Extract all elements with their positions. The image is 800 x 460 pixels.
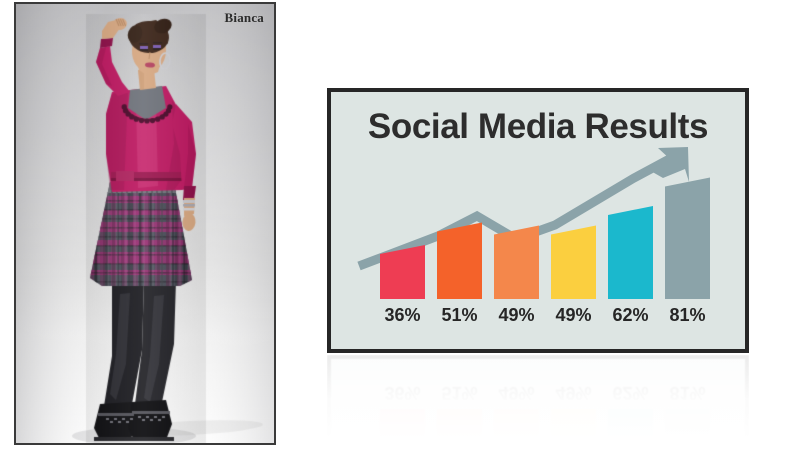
bar-label-4: 49% xyxy=(547,382,600,403)
bar-4 xyxy=(551,226,596,300)
chart-title: Social Media Results xyxy=(331,107,745,147)
chart-reflection: Social Media Results 36%51%49%49%62%81% xyxy=(327,355,749,451)
bar-label-5: 62% xyxy=(604,305,657,326)
bar-1 xyxy=(380,409,425,451)
bar-label-4: 49% xyxy=(547,305,600,326)
bar-label-1: 36% xyxy=(376,382,429,403)
reflection-fade xyxy=(327,355,749,451)
bar-6 xyxy=(665,178,710,300)
bar-5 xyxy=(608,409,653,451)
bar-3 xyxy=(494,409,539,451)
photo-watermark-label: Bianca xyxy=(225,10,264,26)
social-media-results-chart-card: Social Media Results 36%51%49%49%62%81% xyxy=(327,88,749,353)
bar-4 xyxy=(551,409,596,451)
model-photo-card: Bianca xyxy=(14,2,276,445)
bar-6 xyxy=(665,409,710,451)
bar-label-6: 81% xyxy=(661,382,714,403)
model-photo-image xyxy=(16,4,274,443)
bar-label-2: 51% xyxy=(433,382,486,403)
bar-2 xyxy=(437,223,482,300)
trend-line xyxy=(359,442,675,451)
bar-label-2: 51% xyxy=(433,305,486,326)
bar-3 xyxy=(494,226,539,300)
bar-label-3: 49% xyxy=(490,382,543,403)
bar-5 xyxy=(608,206,653,299)
bar-2 xyxy=(437,409,482,451)
bar-label-1: 36% xyxy=(376,305,429,326)
bar-label-6: 81% xyxy=(661,305,714,326)
bar-label-3: 49% xyxy=(490,305,543,326)
bar-1 xyxy=(380,245,425,299)
bar-label-5: 62% xyxy=(604,382,657,403)
